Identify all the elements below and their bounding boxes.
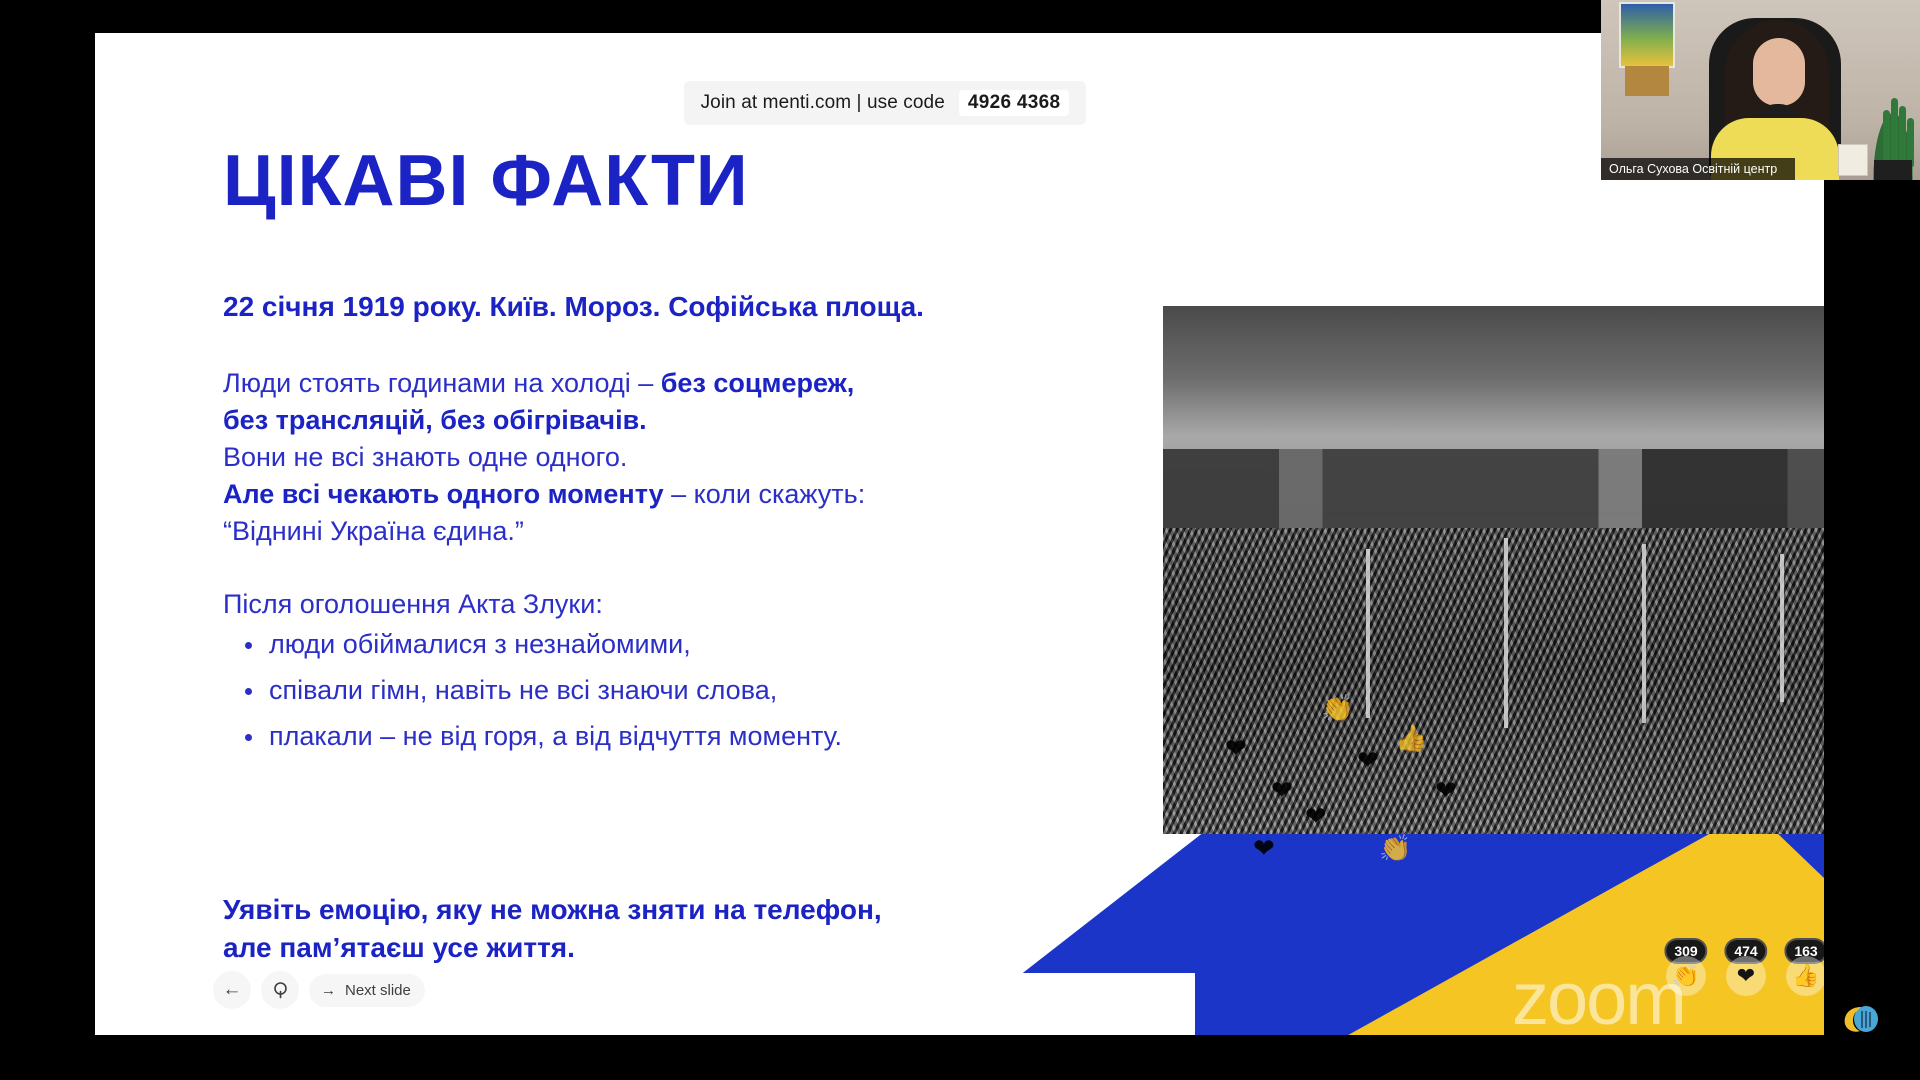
body-line-3-regular: Вони не всі знають одне одного. bbox=[223, 442, 627, 472]
heart-icon: ❤ bbox=[1726, 956, 1766, 996]
photo-crowd bbox=[1163, 528, 1824, 834]
photo-pole bbox=[1780, 554, 1784, 702]
cam-plant-pot bbox=[1874, 160, 1912, 180]
next-slide-label: Next slide bbox=[345, 982, 411, 999]
floating-emoji-heart: ❤ bbox=[1253, 833, 1275, 864]
body-line-4-bold: Але всі чекають одного моменту bbox=[223, 479, 664, 509]
zoom-shared-screen: Join at menti.com | use code 4926 4368 Ц… bbox=[0, 0, 1920, 1080]
presentation-slide: Join at menti.com | use code 4926 4368 Ц… bbox=[95, 33, 1824, 1035]
menti-join-text: Join at menti.com | use code bbox=[701, 92, 945, 114]
photo-pole bbox=[1504, 538, 1508, 728]
closing-line-2: але пам’ятаєш усе життя. bbox=[223, 929, 1053, 967]
body-line-2-bold: без трансляцій, без обігрівачів. bbox=[223, 405, 647, 435]
reaction-counters: 309 👏 474 ❤ 163 👍 5532 👤 bbox=[1663, 938, 1824, 996]
body-line-5: “Віднині Україна єдина.” bbox=[223, 513, 1023, 550]
body-line-1-bold: без соцмереж, bbox=[661, 368, 855, 398]
cam-person-face bbox=[1753, 38, 1805, 106]
body-line-1: Люди стоять годинами на холоді – без соц… bbox=[223, 365, 1023, 402]
zoom-watermark: zoom bbox=[1512, 962, 1685, 1036]
slide-navigation[interactable]: ← → Next slide bbox=[213, 971, 425, 1009]
slide-body: Люди стоять годинами на холоді – без соц… bbox=[223, 365, 1023, 763]
cam-wall-poster bbox=[1619, 2, 1675, 68]
cam-desk-clock bbox=[1838, 144, 1868, 176]
arrow-right-icon: → bbox=[321, 982, 336, 999]
historical-photo bbox=[1163, 306, 1824, 834]
body-spacer bbox=[223, 550, 1023, 586]
next-slide-button[interactable]: → Next slide bbox=[309, 974, 425, 1007]
body-line-2: без трансляцій, без обігрівачів. bbox=[223, 402, 1023, 439]
floating-emoji-clap: 👏 bbox=[1379, 833, 1411, 864]
list-intro: Після оголошення Акта Злуки: bbox=[223, 586, 1023, 623]
webcam-tile[interactable]: Ольга Сухова Освітній центр bbox=[1601, 0, 1920, 180]
slide-subtitle: 22 січня 1919 року. Київ. Мороз. Софійсь… bbox=[223, 291, 924, 323]
list-item: співали гімн, навіть не всі знаючи слова… bbox=[269, 671, 1023, 709]
menti-code: 4926 4368 bbox=[959, 90, 1070, 116]
ukraine-logo-icon bbox=[1841, 1002, 1881, 1036]
participant-name-label: Ольга Сухова Освітній центр bbox=[1601, 158, 1795, 180]
thumbs-up-icon: 👍 bbox=[1786, 956, 1824, 996]
slide-title: ЦІКАВІ ФАКТИ bbox=[223, 145, 749, 217]
list-item: плакали – не від горя, а від відчуття мо… bbox=[269, 717, 1023, 755]
closing-line-1: Уявіть емоцію, яку не можна зняти на тел… bbox=[223, 891, 1053, 929]
photo-pole bbox=[1366, 549, 1370, 718]
body-line-4-regular: – коли скажуть: bbox=[664, 479, 866, 509]
reaction-thumbs-up[interactable]: 163 👍 bbox=[1783, 938, 1824, 996]
slide-closing-text: Уявіть емоцію, яку не можна зняти на тел… bbox=[223, 891, 1053, 967]
list-item: люди обіймалися з незнайомими, bbox=[269, 625, 1023, 663]
body-quote: “Віднині Україна єдина.” bbox=[223, 516, 524, 546]
cam-wall-shelf bbox=[1625, 66, 1669, 96]
body-line-3: Вони не всі знають одне одного. bbox=[223, 439, 1023, 476]
body-line-4: Але всі чекають одного моменту – коли ск… bbox=[223, 476, 1023, 513]
lightbulb-icon[interactable] bbox=[261, 971, 299, 1009]
reaction-heart[interactable]: 474 ❤ bbox=[1723, 938, 1769, 996]
body-line-1-regular: Люди стоять годинами на холоді – bbox=[223, 368, 661, 398]
arrow-left-icon[interactable]: ← bbox=[213, 971, 251, 1009]
photo-pole bbox=[1642, 544, 1646, 724]
facts-list: люди обіймалися з незнайомими, співали г… bbox=[223, 625, 1023, 755]
menti-join-bar: Join at menti.com | use code 4926 4368 bbox=[684, 81, 1086, 125]
